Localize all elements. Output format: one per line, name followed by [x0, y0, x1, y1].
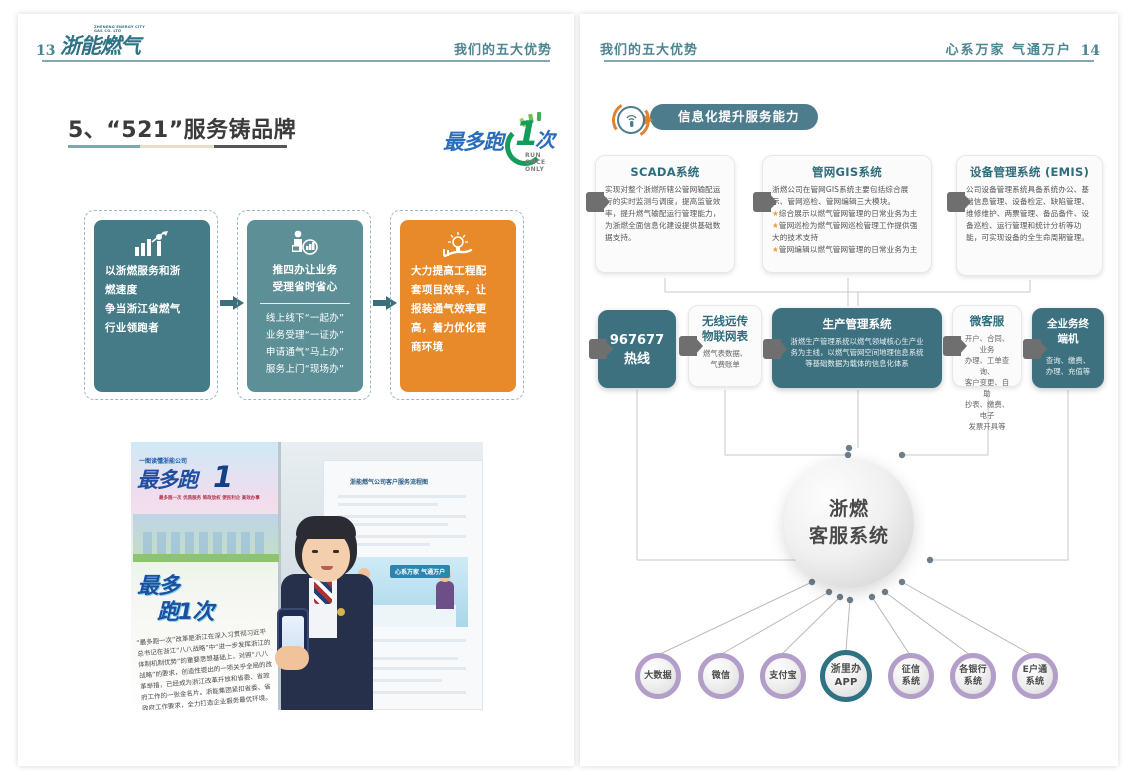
board-card-slogan: 心系万家 气通万户 — [390, 565, 450, 578]
banner-number-one: 1 — [213, 460, 233, 494]
banner-green-strip — [133, 554, 279, 562]
page-title: 5、“521”服务铸品牌 — [68, 112, 296, 144]
information-systems-diagram: 信息化提升服务能力 SCADA系统 实现对整个浙燃所辖公管网输配运行的实时监测与… — [580, 0, 1118, 780]
flow-card-3[interactable]: 大力提高工程配 套项目效率，让 报装通气效率更 高，着力优化营 商环境 — [400, 220, 516, 392]
card-production-title: 生产管理系统 — [782, 317, 932, 332]
run-once-cn: 最多跑 — [443, 126, 503, 156]
flow-card-2-heading: 推四办让业务 受理省时省心 — [256, 262, 354, 296]
card-tab-icon — [1023, 339, 1041, 359]
left-slide: 13 ZHENENG ENERGY CITY GAS CO. LTD 浙能燃气 … — [18, 14, 574, 766]
node-zhejiang-app[interactable]: 浙里办 APP — [820, 650, 872, 702]
promo-photograph: 一图读懂浙能公司 最多跑 1 最多跑一次 优质服务 简政放权 便民利企 高效办事… — [131, 442, 483, 710]
banner-subtitle: 最多跑一次 优质服务 简政放权 便民利企 高效办事 — [159, 496, 260, 502]
card-wechat-service[interactable]: 微客服 开户、合同、业务 办理、工单查询、 客户变更、自助 抄表、缴费、电子 发… — [952, 305, 1022, 387]
board-line-2 — [338, 503, 438, 506]
photo-staff-person — [271, 516, 383, 710]
node-alipay[interactable]: 支付宝 — [760, 653, 806, 699]
card-scada-body: 实现对整个浙燃所辖公管网输配运行的实时监测与调度，提高监管效率，提升燃气输配运行… — [605, 184, 725, 244]
header-rule — [42, 60, 550, 62]
flow-card-1[interactable]: 以浙燃服务和浙 燃速度 争当浙江省燃气 行业领跑者 — [94, 220, 210, 392]
banner-title: 最多跑 — [137, 464, 197, 494]
hub-line-1: 浙燃 — [829, 496, 869, 523]
banner-cityscape-illustration — [133, 514, 279, 558]
card-tab-icon — [679, 336, 697, 356]
board-person-right — [436, 581, 454, 609]
card-production-sub: 浙燃生产管理系统以燃气领域核心生产业 务为主线，以燃气管网空间地理信息系统 等基… — [782, 336, 932, 369]
growth-chart-icon — [103, 230, 201, 262]
card-tab-icon — [753, 192, 771, 212]
card-tab-icon — [763, 339, 781, 359]
service-flow-diagram: 以浙燃服务和浙 燃速度 争当浙江省燃气 行业领跑者 — [84, 210, 524, 400]
title-underline-cream — [140, 145, 214, 148]
person-neck-scarf — [314, 580, 332, 604]
card-gis-body: 浙燃公司在管网GIS系统主要包括综合展示、管网巡检、管网编辑三大模块。 ★综合展… — [772, 184, 922, 256]
hub-line-2: 客服系统 — [809, 523, 889, 550]
card-wechat-sub: 开户、合同、业务 办理、工单查询、 客户变更、自助 抄表、缴费、电子 发票开具等 — [962, 333, 1012, 432]
flow-card-2-divider — [260, 303, 350, 304]
card-wireless-meter[interactable]: 无线远传 物联网表 燃气表数据、 气费账单 — [688, 305, 762, 387]
logo-chinese: 浙能燃气 — [60, 30, 140, 60]
card-wireless-title: 无线远传 物联网表 — [698, 314, 752, 344]
flow-card-1-heading: 以浙燃服务和浙 燃速度 争当浙江省燃气 行业领跑者 — [103, 262, 201, 338]
node-bank-system[interactable]: 各银行 系统 — [950, 653, 996, 699]
photo-roll-up-banner: 一图读懂浙能公司 最多跑 1 最多跑一次 优质服务 简政放权 便民利企 高效办事… — [131, 442, 281, 710]
flow-card-2[interactable]: 推四办让业务 受理省时省心 线上线下“一起办” 业务受理“一证办” 申请通气“马… — [247, 220, 363, 392]
flow-card-3-heading: 大力提高工程配 套项目效率，让 报装通气效率更 高，着力优化营 商环境 — [409, 262, 507, 357]
card-tab-icon — [589, 339, 607, 359]
card-tab-icon — [943, 336, 961, 356]
left-slide-header: 13 ZHENENG ENERGY CITY GAS CO. LTD 浙能燃气 … — [18, 14, 574, 72]
card-gis-system[interactable]: 管网GIS系统 浙燃公司在管网GIS系统主要包括综合展示、管网巡检、管网编辑三大… — [762, 155, 932, 273]
card-scada-title: SCADA系统 — [605, 164, 725, 180]
node-wechat[interactable]: 微信 — [698, 653, 744, 699]
card-terminal-sub: 查询、缴费、 办理、充值等 — [1042, 355, 1094, 377]
run-once-logo: 最多跑 1 次 RUN ONCE ONLY — [443, 112, 561, 170]
card-tab-icon — [947, 192, 965, 212]
service-person-icon — [256, 230, 354, 262]
card-gis-title: 管网GIS系统 — [772, 164, 922, 180]
banner-big-text-2: 跑1次 — [157, 594, 213, 626]
card-emis-body: 公司设备管理系统具备系统办公、基础信息管理、设备检定、缺陷管理、维修维护、两票管… — [966, 184, 1093, 244]
title-underline-teal — [68, 145, 140, 148]
node-ehutong-system[interactable]: E户通 系统 — [1012, 653, 1058, 699]
node-big-data[interactable]: 大数据 — [635, 653, 681, 699]
card-hotline[interactable]: 967677 热线 — [598, 310, 676, 388]
company-logo: ZHENENG ENERGY CITY GAS CO. LTD 浙能燃气 — [60, 26, 152, 60]
banner-body-text: “最多跑一次”改革是浙江在深入习贯彻习近平总书记在浙江“八八战略”中“进一步发挥… — [136, 626, 278, 710]
left-header-title: 我们的五大优势 — [454, 39, 552, 58]
person-fringe — [296, 516, 356, 539]
badge-arrow-icon — [644, 115, 653, 125]
flow-cell-3: 大力提高工程配 套项目效率，让 报装通气效率更 高，着力优化营 商环境 — [390, 210, 524, 400]
lightbulb-hand-icon — [409, 230, 507, 262]
slide-pair-page: 13 ZHENENG ENERGY CITY GAS CO. LTD 浙能燃气 … — [0, 0, 1135, 780]
card-scada-system[interactable]: SCADA系统 实现对整个浙燃所辖公管网输配运行的实时监测与调度，提高监管效率，… — [595, 155, 735, 273]
person-eye-left — [312, 550, 318, 553]
card-emis-title: 设备管理系统 (EMIS) — [966, 164, 1093, 180]
person-eye-right — [333, 550, 339, 553]
card-emis-system[interactable]: 设备管理系统 (EMIS) 公司设备管理系统具备系统办公、基础信息管理、设备检定… — [956, 155, 1103, 276]
run-once-next: 次 — [535, 124, 555, 153]
card-production-system[interactable]: 生产管理系统 浙燃生产管理系统以燃气领域核心生产业 务为主线，以燃气管网空间地理… — [772, 308, 942, 388]
card-hotline-text: 967677 热线 — [608, 319, 666, 369]
flow-card-2-list: 线上线下“一起办” 业务受理“一证办” 申请通气“马上办” 服务上门“现场办” — [256, 310, 354, 378]
title-underline-dark — [214, 145, 287, 148]
card-wechat-title: 微客服 — [962, 314, 1012, 329]
card-terminal-title: 全业务终端机 — [1042, 317, 1094, 347]
run-once-english: RUN ONCE ONLY — [525, 152, 561, 173]
left-page-number: 13 — [36, 43, 55, 59]
flow-cell-2: 推四办让业务 受理省时省心 线上线下“一起办” 业务受理“一证办” 申请通气“马… — [237, 210, 371, 400]
section-badge-label: 信息化提升服务能力 — [650, 104, 818, 130]
node-credit-system[interactable]: 征信 系统 — [888, 653, 934, 699]
card-tab-icon — [586, 192, 604, 212]
flow-cell-1: 以浙燃服务和浙 燃速度 争当浙江省燃气 行业领跑者 — [84, 210, 218, 400]
signal-hand-icon — [617, 106, 645, 134]
card-terminal-machine[interactable]: 全业务终端机 查询、缴费、 办理、充值等 — [1032, 308, 1104, 388]
board-title: 浙能燃气公司客户服务流程图 — [350, 477, 428, 486]
card-wireless-sub: 燃气表数据、 气费账单 — [698, 348, 752, 370]
person-hand — [275, 646, 309, 670]
person-badge-pin — [337, 608, 345, 616]
star-icon: ★ — [772, 245, 779, 254]
customer-service-hub[interactable]: 浙燃 客服系统 — [784, 458, 914, 588]
board-line-1 — [338, 495, 466, 498]
star-icon: ★ — [772, 221, 779, 230]
